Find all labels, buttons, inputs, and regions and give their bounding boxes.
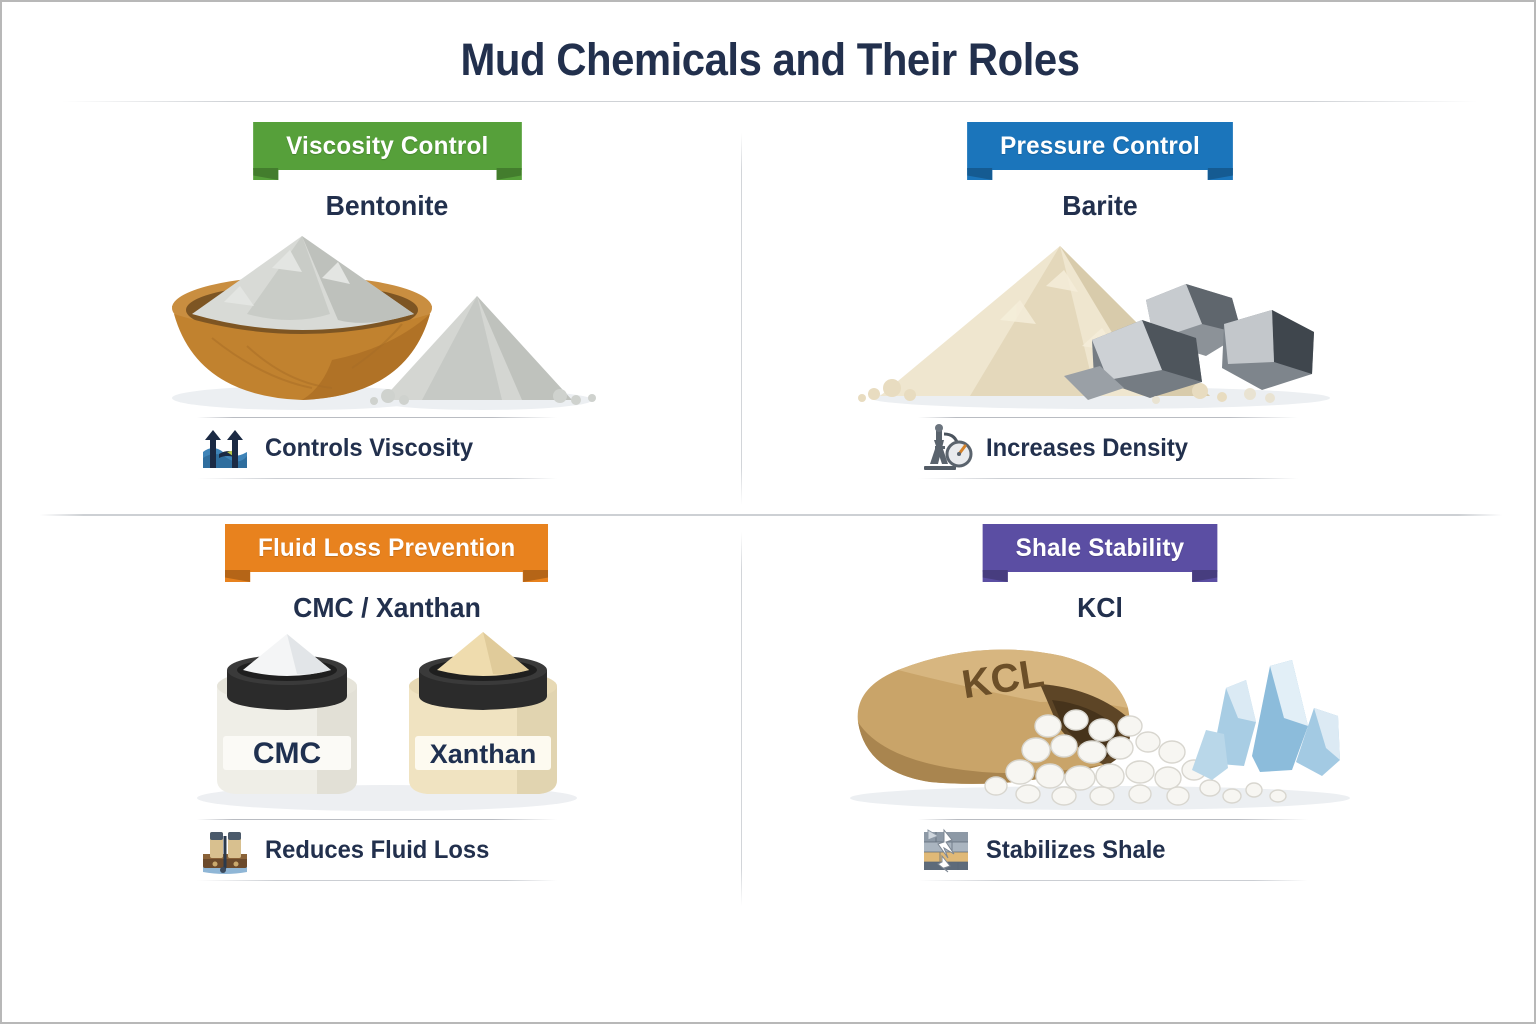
quadrant-pressure-control: Pressure Control Barite: [750, 122, 1450, 512]
vertical-divider-bottom: [741, 532, 742, 906]
caption-rule-bottom: [197, 880, 557, 881]
title-divider: [62, 101, 1478, 102]
kcl-svg: KCL: [840, 630, 1360, 815]
ribbon-tail-right-icon: [496, 168, 521, 180]
caption-row: Reduces Fluid Loss: [197, 820, 557, 880]
caption-rule-bottom: [197, 478, 557, 479]
arrows-over-water-icon: [197, 424, 253, 472]
caption-rule-top: [918, 417, 1298, 418]
banner-label: Pressure Control: [1000, 132, 1200, 160]
page-title: Mud Chemicals and Their Roles: [56, 34, 1484, 86]
ribbon-tail-right-icon: [1192, 570, 1217, 582]
banner-wrap: Fluid Loss Prevention: [42, 524, 732, 582]
chemical-name: KCl: [768, 592, 1433, 624]
banner-shale-stability: Shale Stability: [983, 524, 1218, 572]
quadrant-fluid-loss-prevention: Fluid Loss Prevention CMC / Xanthan CMC: [42, 524, 732, 914]
bentonite-svg: [152, 228, 622, 413]
caption-row: Increases Density: [918, 418, 1298, 478]
caption-row: Stabilizes Shale: [918, 820, 1308, 880]
ribbon-tail-right-icon: [1208, 168, 1233, 180]
infographic-canvas: Mud Chemicals and Their Roles Viscosity …: [0, 0, 1536, 1024]
caption-rule-top: [197, 819, 557, 820]
quadrant-viscosity-control: Viscosity Control Bentonite: [42, 122, 732, 512]
banner-label: Shale Stability: [1016, 534, 1185, 562]
jars-svg: CMC Xanthan: [187, 630, 587, 815]
illustration-cmc-xanthan-jars: CMC Xanthan: [42, 630, 732, 815]
caption-rule-top: [918, 819, 1308, 820]
banner-wrap: Viscosity Control: [42, 122, 732, 180]
derrick-pressure-gauge-icon: [918, 424, 974, 472]
illustration-kcl: KCL: [750, 630, 1450, 815]
rock-strata-crack-icon: [918, 826, 974, 874]
ribbon-tail-left-icon: [253, 168, 278, 180]
banner-label: Viscosity Control: [286, 132, 488, 160]
jar-label-xanthan: Xanthan: [430, 739, 537, 769]
caption-label: Stabilizes Shale: [986, 836, 1166, 865]
chemical-name: Barite: [768, 190, 1433, 222]
ribbon-tail-left-icon: [225, 570, 250, 582]
illustration-bentonite: [42, 228, 732, 413]
illustration-barite: [750, 228, 1450, 413]
caption-label: Controls Viscosity: [265, 434, 473, 463]
horizontal-divider: [40, 514, 1502, 516]
banner-wrap: Pressure Control: [750, 122, 1450, 180]
ribbon-tail-right-icon: [523, 570, 548, 582]
banner-pressure-control: Pressure Control: [967, 122, 1233, 170]
ribbon-tail-left-icon: [983, 570, 1008, 582]
vertical-divider-top: [741, 133, 742, 505]
banner-label: Fluid Loss Prevention: [258, 534, 515, 562]
caption-row: Controls Viscosity: [197, 418, 557, 478]
banner-wrap: Shale Stability: [750, 524, 1450, 582]
caption-rule-bottom: [918, 880, 1308, 881]
jar-label-cmc: CMC: [253, 737, 321, 770]
banner-fluid-loss-prevention: Fluid Loss Prevention: [225, 524, 548, 572]
caption-label: Reduces Fluid Loss: [265, 836, 489, 865]
quadrant-shale-stability: Shale Stability KCl KCL: [750, 524, 1450, 914]
chemical-name: Bentonite: [59, 190, 715, 222]
banner-viscosity-control: Viscosity Control: [253, 122, 521, 170]
caption-rule-top: [197, 417, 557, 418]
caption-rule-bottom: [918, 478, 1298, 479]
ribbon-tail-left-icon: [967, 168, 992, 180]
caption-label: Increases Density: [986, 434, 1188, 463]
barite-svg: [850, 228, 1350, 413]
filter-cake-core-icon: [197, 826, 253, 874]
chemical-name: CMC / Xanthan: [59, 592, 715, 624]
